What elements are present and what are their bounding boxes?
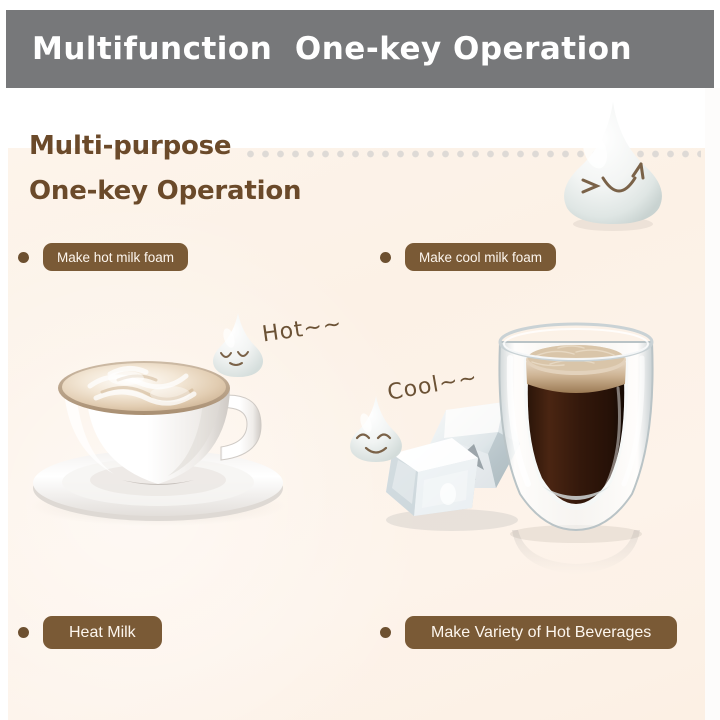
espresso-glass-photo <box>466 318 686 588</box>
label-pill-text: Make hot milk foam <box>43 243 188 271</box>
bullet-dot-icon <box>18 627 29 638</box>
feature-label-make-hot-milk-foam[interactable]: Make hot milk foam <box>18 243 188 271</box>
bullet-dot-icon <box>380 252 391 263</box>
label-pill-text: Heat Milk <box>43 616 162 649</box>
page-title: Multifunction One-key Operation <box>32 31 632 67</box>
headline-line-1: Multi-purpose <box>29 131 231 161</box>
feature-label-make-variety-of-hot-beverages[interactable]: Make Variety of Hot Beverages <box>380 616 677 649</box>
header-band: Multifunction One-key Operation <box>6 10 714 88</box>
bullet-dot-icon <box>18 252 29 263</box>
white-gap-right <box>705 88 720 720</box>
label-pill-text: Make Variety of Hot Beverages <box>405 616 677 649</box>
product-feature-banner: Multifunction One-key Operation Multi-pu… <box>0 0 720 720</box>
milk-drop-cool-icon <box>345 394 407 466</box>
white-gap-left <box>0 88 8 720</box>
milk-drop-wink-icon <box>553 98 673 233</box>
feature-label-heat-milk[interactable]: Heat Milk <box>18 616 162 649</box>
label-pill-text: Make cool milk foam <box>405 243 556 271</box>
feature-label-make-cool-milk-foam[interactable]: Make cool milk foam <box>380 243 556 271</box>
bullet-dot-icon <box>380 627 391 638</box>
headline-line-2: One-key Operation <box>29 176 301 206</box>
milk-drop-hot-icon <box>208 311 268 381</box>
